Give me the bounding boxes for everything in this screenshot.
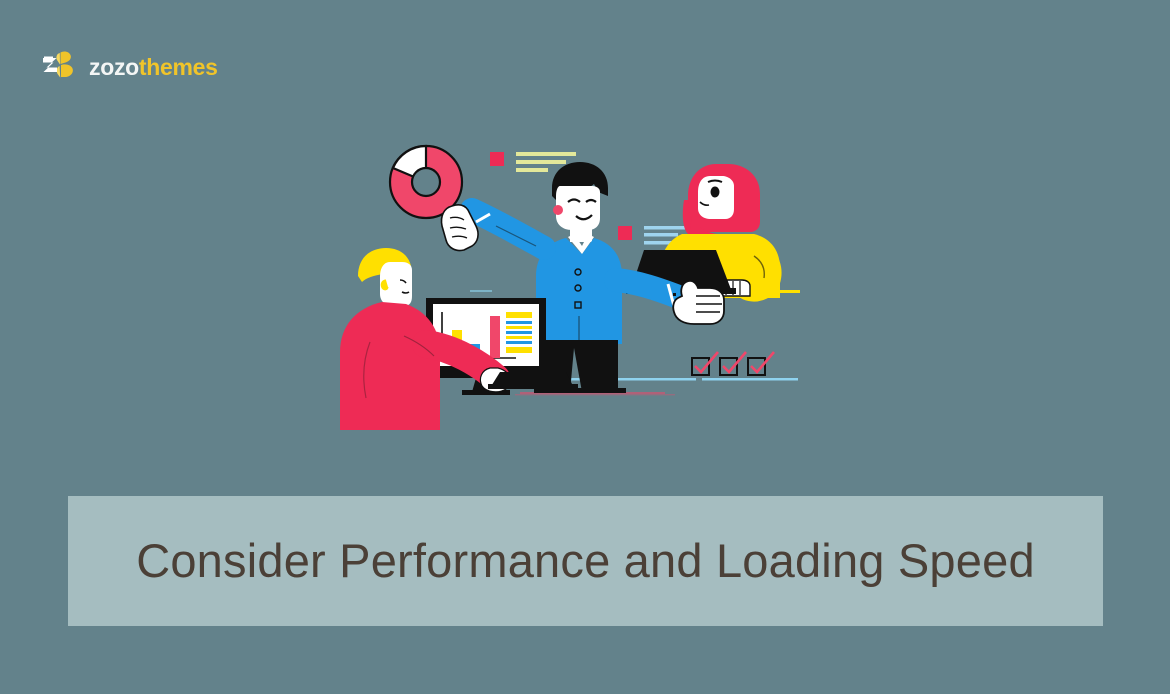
checkbox-3 xyxy=(748,352,774,375)
bar-3 xyxy=(490,316,500,358)
brand-wordmark-zozo: zozo xyxy=(89,54,139,80)
brand-wordmark: zozothemes xyxy=(89,56,218,79)
checkbox-2 xyxy=(720,352,746,375)
hero-illustration xyxy=(330,130,830,450)
checkbox-row xyxy=(692,352,774,375)
title-banner: Consider Performance and Loading Speed xyxy=(68,496,1103,626)
brand-logo[interactable]: zozothemes xyxy=(40,46,218,88)
page-canvas: zozothemes xyxy=(0,0,1170,694)
zozothemes-logo-icon xyxy=(40,47,80,87)
page-title: Consider Performance and Loading Speed xyxy=(136,534,1035,588)
checkbox-1 xyxy=(692,352,718,375)
brand-wordmark-themes: themes xyxy=(139,54,218,80)
keyboard-and-mouse xyxy=(488,372,578,389)
